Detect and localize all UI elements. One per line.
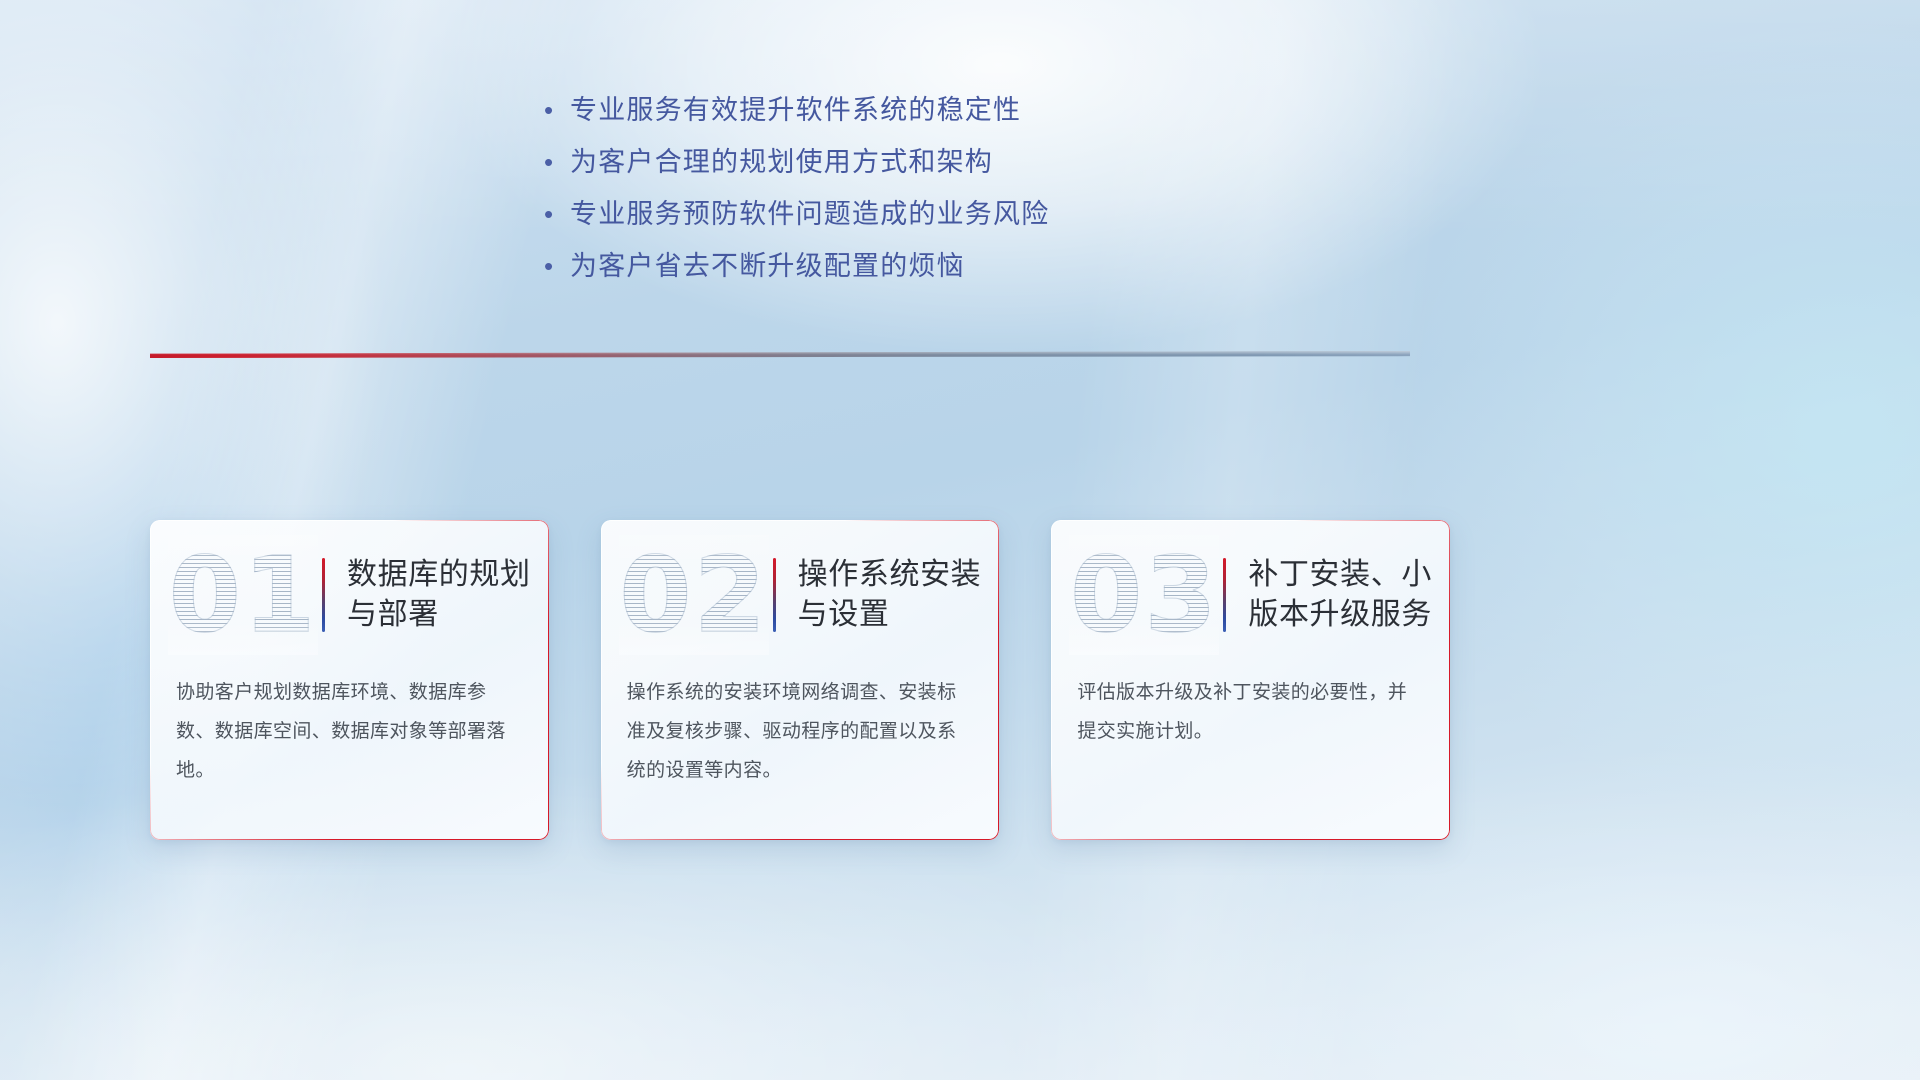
card-number-text: 01 <box>169 543 318 647</box>
benefits-bullet-list: • 专业服务有效提升软件系统的稳定性 • 为客户合理的规划使用方式和架构 • 专… <box>540 88 1200 296</box>
card-body-03: 评估版本升级及补丁安装的必要性，并提交实施计划。 <box>1051 670 1450 752</box>
card-number-03: 03 <box>1069 535 1219 655</box>
card-number-02: 02 <box>619 535 769 655</box>
bullet-text-4: 为客户省去不断升级配置的烦恼 <box>570 244 965 283</box>
bullet-text-2: 为客户合理的规划使用方式和架构 <box>570 140 993 179</box>
card-body-01: 协助客户规划数据库环境、数据库参数、数据库空间、数据库对象等部署落地。 <box>150 670 549 791</box>
bullet-text-1: 专业服务有效提升软件系统的稳定性 <box>570 88 1021 127</box>
card-title-rule-icon <box>1223 558 1226 632</box>
bullet-item-2: • 为客户合理的规划使用方式和架构 <box>540 140 1200 192</box>
bullet-item-3: • 专业服务预防软件问题造成的业务风险 <box>540 192 1200 244</box>
card-number-text: 03 <box>1070 543 1219 647</box>
card-number-text: 02 <box>619 543 768 647</box>
card-header-01: 01 数据库的规划与部署 <box>150 520 549 670</box>
service-card-03[interactable]: 03 补丁安装、小版本升级服务 评估版本升级及补丁安装的必要性，并提交实施计划。 <box>1051 520 1450 840</box>
bullet-text-3: 专业服务预防软件问题造成的业务风险 <box>570 192 1049 231</box>
section-divider <box>150 345 1410 367</box>
card-title-02: 操作系统安装与设置 <box>798 555 1000 634</box>
bullet-dot-icon: • <box>540 253 570 279</box>
service-card-list: 01 数据库的规划与部署 协助客户规划数据库环境、数据库参数、数据库空间、数据库… <box>150 520 1450 744</box>
service-card-01[interactable]: 01 数据库的规划与部署 协助客户规划数据库环境、数据库参数、数据库空间、数据库… <box>150 520 549 840</box>
card-body-02: 操作系统的安装环境网络调查、安装标准及复核步骤、驱动程序的配置以及系统的设置等内… <box>601 670 1000 791</box>
bullet-item-1: • 专业服务有效提升软件系统的稳定性 <box>540 88 1200 140</box>
card-title-03: 补丁安装、小版本升级服务 <box>1248 555 1450 634</box>
bullet-dot-icon: • <box>540 97 570 123</box>
card-number-01: 01 <box>168 535 318 655</box>
card-title-rule-icon <box>773 558 776 632</box>
section-divider-sheen <box>150 351 1410 358</box>
bullet-dot-icon: • <box>540 201 570 227</box>
service-card-02[interactable]: 02 操作系统安装与设置 操作系统的安装环境网络调查、安装标准及复核步骤、驱动程… <box>601 520 1000 840</box>
bullet-item-4: • 为客户省去不断升级配置的烦恼 <box>540 244 1200 296</box>
card-header-02: 02 操作系统安装与设置 <box>601 520 1000 670</box>
card-header-03: 03 补丁安装、小版本升级服务 <box>1051 520 1450 670</box>
card-title-rule-icon <box>322 558 325 632</box>
bullet-dot-icon: • <box>540 149 570 175</box>
card-title-01: 数据库的规划与部署 <box>347 555 549 634</box>
